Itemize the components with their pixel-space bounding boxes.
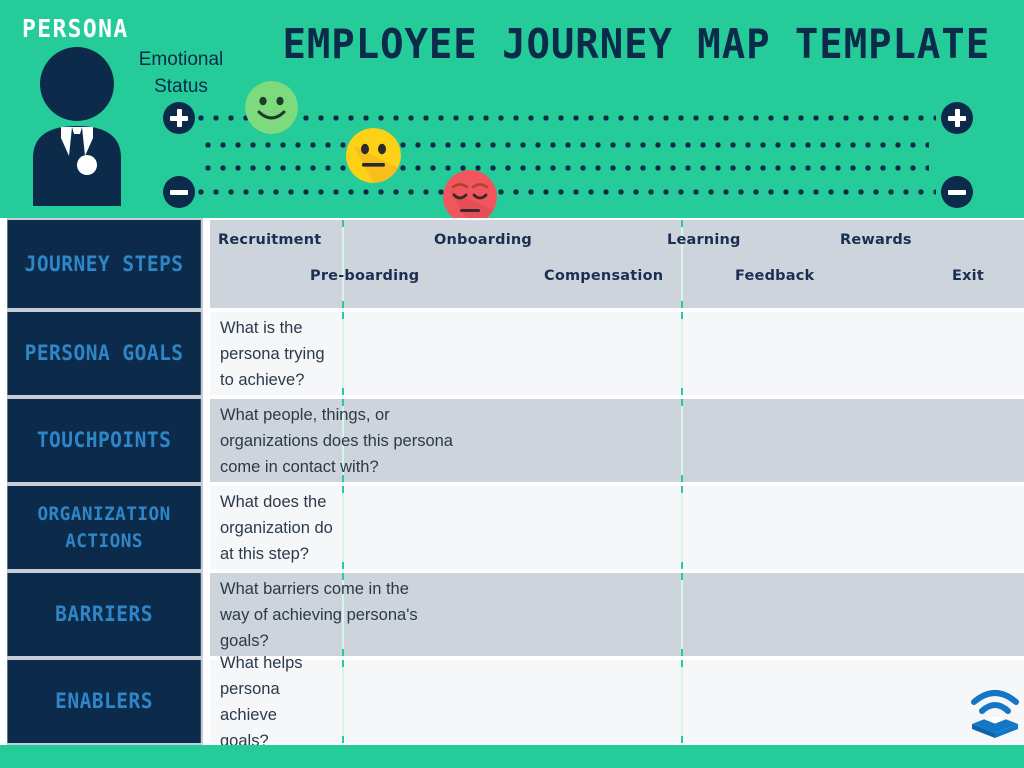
row-header-organization-actions[interactable]: ORGANIZATION ACTIONS [7,484,202,571]
column-separator [681,660,683,743]
journey-step-recruitment[interactable]: Recruitment [218,232,321,248]
enablers-cells[interactable]: What helps persona achieve goals? [210,658,1024,745]
journey-map-grid: JOURNEY STEPS Recruitment Pre-boarding O… [0,218,1024,745]
header-banner: PERSONA EMPLOYEE JOURNEY MAP TEMPLATE Em… [0,0,1024,218]
journey-step-compensation[interactable]: Compensation [544,268,663,284]
row-header-barriers[interactable]: BARRIERS [7,571,202,658]
journey-map-page: PERSONA EMPLOYEE JOURNEY MAP TEMPLATE Em… [0,0,1024,768]
cell-prompt: What does the organization do at this st… [220,489,345,567]
emotion-dotted-line [205,142,929,148]
neutral-face-icon[interactable] [346,128,401,183]
journey-step-feedback[interactable]: Feedback [735,268,814,284]
broadcast-cube-logo-icon[interactable] [966,682,1024,740]
sad-face-icon[interactable] [443,170,497,224]
barriers-cells[interactable]: What barriers come in the way of achievi… [210,571,1024,658]
column-separator [681,573,683,656]
row-header-label: TOUCHPOINTS [37,427,171,454]
table-row: JOURNEY STEPS Recruitment Pre-boarding O… [0,218,1024,310]
column-separator [342,220,344,308]
cell-prompt: What people, things, or organizations do… [220,402,488,480]
row-header-touchpoints[interactable]: TOUCHPOINTS [7,397,202,484]
organization-actions-cells[interactable]: What does the organization do at this st… [210,484,1024,571]
column-separator [681,399,683,482]
emotion-dotted-line [205,165,929,171]
emotional-status-label: Emotional Status [128,46,234,100]
journey-step-pre-boarding[interactable]: Pre-boarding [310,268,419,284]
journey-steps-cells: Recruitment Pre-boarding Onboarding Comp… [210,218,1024,310]
minus-circle-icon [941,176,973,208]
row-header-journey-steps[interactable]: JOURNEY STEPS [7,218,202,310]
column-separator [342,312,344,395]
persona-label: PERSONA [22,14,129,43]
table-row: ORGANIZATION ACTIONS What does the organ… [0,484,1024,571]
footer-band [0,745,1024,768]
table-row: BARRIERS What barriers come in the way o… [0,571,1024,658]
businessman-avatar-icon [25,46,130,206]
touchpoints-cells[interactable]: What people, things, or organizations do… [210,397,1024,484]
happy-face-icon[interactable] [245,81,298,134]
cell-prompt: What barriers come in the way of achievi… [220,576,435,654]
minus-circle-icon [163,176,195,208]
journey-step-exit[interactable]: Exit [952,268,984,284]
column-separator [681,486,683,569]
journey-step-learning[interactable]: Learning [667,232,741,248]
emotion-dotted-line [198,115,936,121]
journey-step-rewards[interactable]: Rewards [840,232,912,248]
row-header-label: BARRIERS [55,601,153,628]
plus-circle-icon [941,102,973,134]
row-header-label: PERSONA GOALS [25,340,184,367]
table-row: PERSONA GOALS What is the persona trying… [0,310,1024,397]
column-separator [681,312,683,395]
table-row: TOUCHPOINTS What people, things, or orga… [0,397,1024,484]
journey-step-onboarding[interactable]: Onboarding [434,232,532,248]
row-header-label: JOURNEY STEPS [25,251,184,278]
cell-prompt: What is the persona trying to achieve? [220,315,340,393]
row-header-label: ORGANIZATION ACTIONS [7,501,200,555]
column-separator [342,660,344,743]
emotion-dotted-line [198,189,936,195]
persona-goals-cells[interactable]: What is the persona trying to achieve? [210,310,1024,397]
table-row: ENABLERS What helps persona achieve goal… [0,658,1024,745]
page-title: EMPLOYEE JOURNEY MAP TEMPLATE [283,20,986,68]
row-header-persona-goals[interactable]: PERSONA GOALS [7,310,202,397]
plus-circle-icon [163,102,195,134]
row-header-label: ENABLERS [55,688,153,715]
row-header-enablers[interactable]: ENABLERS [7,658,202,745]
cell-prompt: What helps persona achieve goals? [220,650,330,754]
